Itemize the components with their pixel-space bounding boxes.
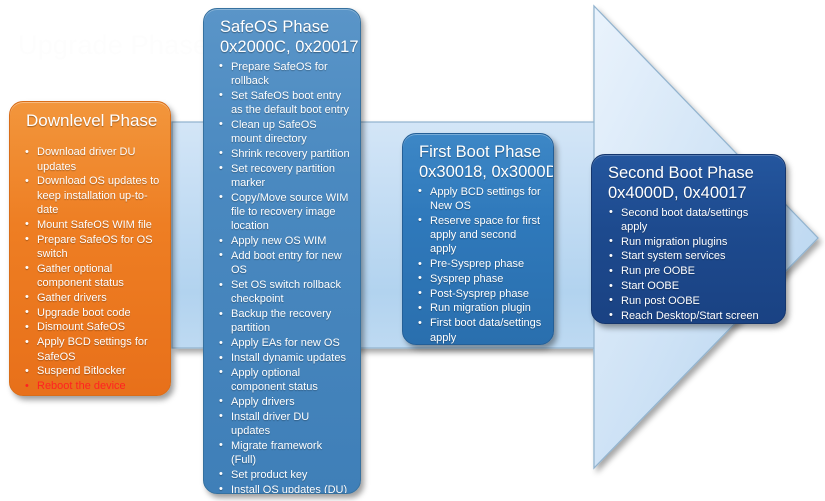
list-item: Install OS updates (DU)	[216, 483, 350, 494]
list-item: Mount SafeOS WIM file	[22, 218, 160, 232]
list-item: Start system services	[604, 249, 775, 263]
list-item: Install driver DU updates	[216, 410, 350, 439]
phase-title-downlevel: Downlevel Phase	[26, 111, 160, 131]
phase-code-second-boot: 0x4000D, 0x40017	[608, 184, 775, 204]
list-item: Gather drivers	[22, 291, 160, 305]
list-item: Post-Sysprep phase	[415, 287, 543, 301]
phase-title-safeos: SafeOS Phase	[220, 18, 350, 38]
list-item: Set SafeOS boot entry as the default boo…	[216, 89, 350, 118]
list-item: Start OOBE	[604, 279, 775, 293]
phase-title-second-boot: Second Boot Phase	[608, 164, 775, 184]
list-item: Copy/Move source WIM file to recovery im…	[216, 191, 350, 234]
list-item: Download driver DU updates	[22, 145, 160, 174]
list-item: Apply BCD settings for New OS	[415, 185, 543, 214]
list-item: Pre-Sysprep phase	[415, 257, 543, 271]
list-item: Apply optional component status	[216, 366, 350, 395]
phase-box-first-boot[interactable]: First Boot Phase 0x30018, 0x3000D Apply …	[402, 133, 554, 345]
list-item: First boot data/settings apply	[415, 316, 543, 345]
list-item: Shrink recovery partition	[216, 147, 350, 161]
phase-code-first-boot: 0x30018, 0x3000D	[419, 163, 543, 183]
list-item: Prepare SafeOS for OS switch	[22, 233, 160, 262]
phase-steps-downlevel: Download driver DU updates Download OS u…	[22, 145, 160, 393]
diagram-canvas: Upgrade Phases Downlevel Phase	[0, 0, 825, 501]
phase-steps-first-boot: Apply BCD settings for New OS Reserve sp…	[415, 185, 543, 345]
list-item: Clean up SafeOS mount directory	[216, 118, 350, 147]
list-item: Backup the recovery partition	[216, 307, 350, 336]
list-item: Upgrade boot code	[22, 306, 160, 320]
list-item: Run pre OOBE	[604, 264, 775, 278]
list-item: Apply BCD settings for SafeOS	[22, 335, 160, 364]
phase-steps-safeos: Prepare SafeOS for rollback Set SafeOS b…	[216, 60, 350, 494]
list-item: Gather optional component status	[22, 262, 160, 291]
phase-title-first-boot: First Boot Phase	[419, 143, 543, 163]
list-item: Run migration plugin	[415, 301, 543, 315]
list-item: Run post OOBE	[604, 294, 775, 308]
list-item: Add boot entry for new OS	[216, 249, 350, 278]
list-item: Download OS updates to keep installation…	[22, 174, 160, 217]
list-item: Run migration plugins	[604, 235, 775, 249]
list-item: Set OS switch rollback checkpoint	[216, 278, 350, 307]
list-item: Dismount SafeOS	[22, 320, 160, 334]
list-item: Set recovery partition marker	[216, 162, 350, 191]
phase-box-downlevel[interactable]: Downlevel Phase Download driver DU updat…	[9, 101, 171, 396]
phase-box-second-boot[interactable]: Second Boot Phase 0x4000D, 0x40017 Secon…	[591, 154, 786, 324]
list-item: Reach Desktop/Start screen	[604, 309, 775, 323]
list-item: Set product key	[216, 468, 350, 482]
list-item-reboot: Reboot the device	[22, 379, 160, 393]
list-item: Sysprep phase	[415, 272, 543, 286]
phase-code-safeos: 0x2000C, 0x20017	[220, 38, 350, 58]
phase-box-safeos[interactable]: SafeOS Phase 0x2000C, 0x20017 Prepare Sa…	[203, 8, 361, 494]
list-item: Second boot data/settings apply	[604, 206, 775, 235]
list-item: Migrate framework (Full)	[216, 439, 350, 468]
list-item: Apply new OS WIM	[216, 234, 350, 248]
list-item: Apply EAs for new OS	[216, 336, 350, 350]
list-item: Install dynamic updates	[216, 351, 350, 365]
phase-steps-second-boot: Second boot data/settings apply Run migr…	[604, 206, 775, 323]
list-item: Apply drivers	[216, 395, 350, 409]
list-item: Reserve space for first apply and second…	[415, 214, 543, 257]
list-item: Prepare SafeOS for rollback	[216, 60, 350, 89]
list-item: Suspend Bitlocker	[22, 364, 160, 378]
